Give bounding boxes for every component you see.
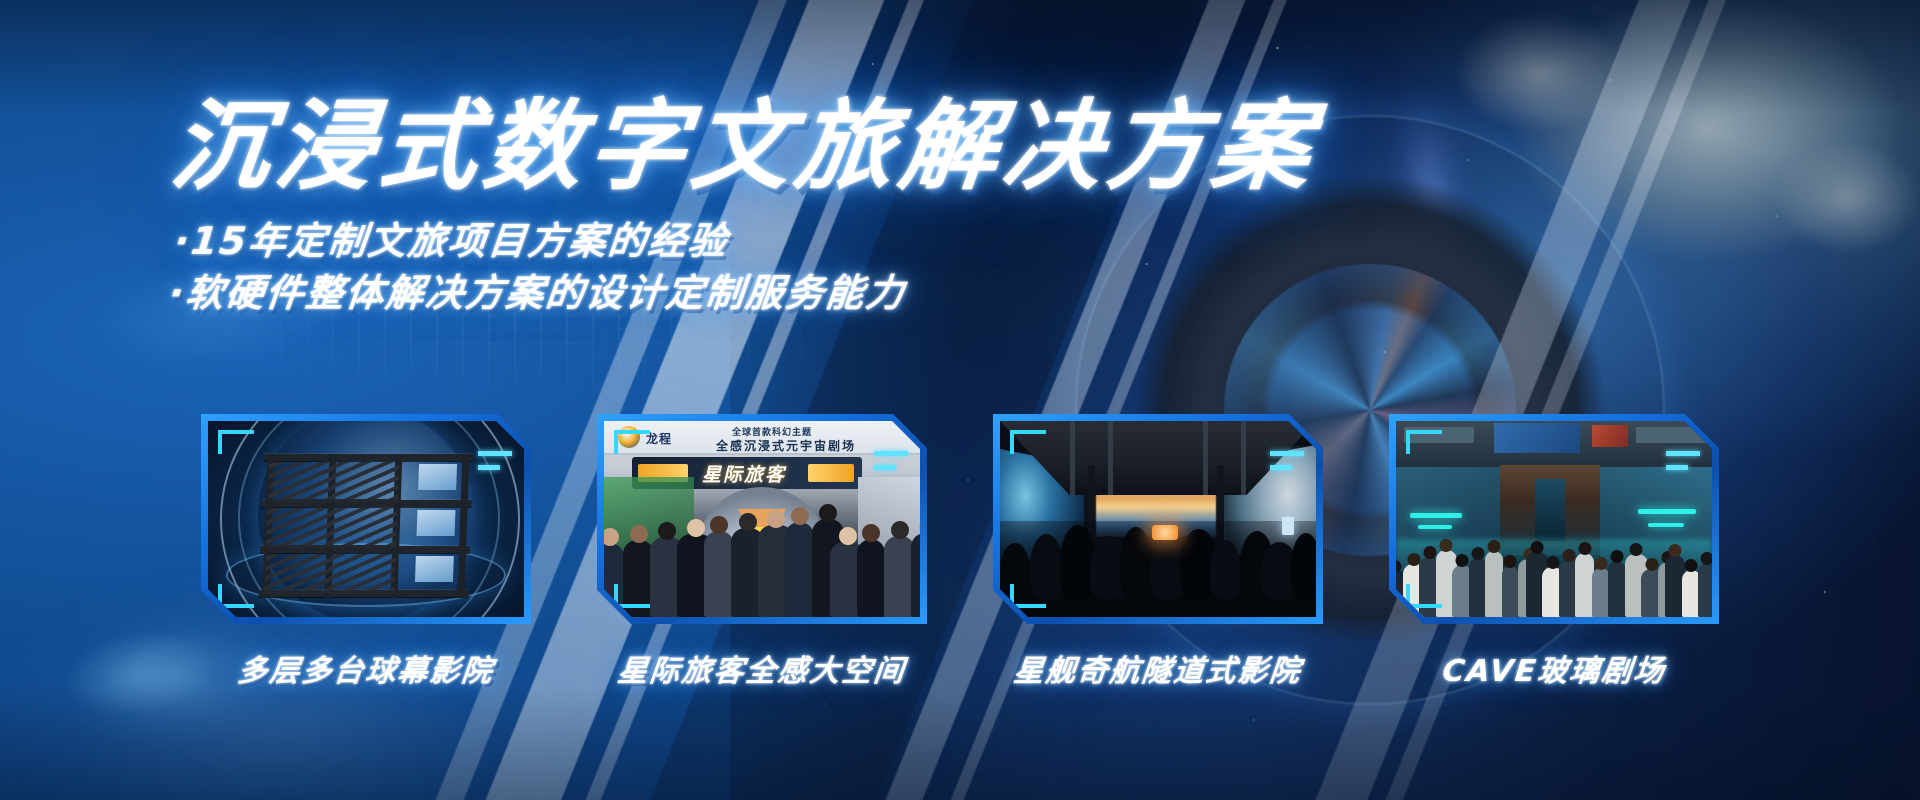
person-head [862, 524, 880, 542]
subtitle-line-2: ·软硬件整体解决方案的设计定制服务能力 [166, 267, 1316, 319]
subtitle-line-1: ·15年定制文旅项目方案的经验 [172, 215, 1322, 267]
card-caption-4: CAVE玻璃剧场 [1440, 646, 1668, 690]
person-head [1646, 558, 1659, 571]
art-cave-theater [1396, 421, 1712, 617]
accent-dash-icon [874, 465, 896, 470]
audience-silhouette [1210, 540, 1241, 599]
person-head [1396, 560, 1401, 573]
audience-member [1502, 566, 1519, 617]
rig-staircase [266, 508, 333, 548]
person-head [819, 504, 837, 522]
visitor-silhouette [604, 543, 624, 617]
showcase-card-4[interactable]: CAVE玻璃剧场 [1389, 414, 1719, 690]
accent-dash-icon [1666, 451, 1700, 456]
audience-member [1698, 563, 1712, 617]
booth-brand-name: 龙程 [646, 430, 672, 447]
person-head [1669, 544, 1682, 557]
person-head [687, 519, 705, 537]
person-head [710, 516, 728, 534]
booth-logo-icon [618, 426, 640, 448]
person-head [1530, 541, 1543, 554]
showcase-card-1[interactable]: 多层多台球幕影院 [201, 414, 531, 690]
audience-member [1396, 571, 1403, 617]
person-head [791, 507, 809, 525]
headline-block: 沉浸式数字文旅解决方案 ·15年定制文旅项目方案的经验 ·软硬件整体解决方案的设… [172, 96, 1316, 320]
accent-dash-icon [1270, 451, 1304, 456]
card-frame-4 [1389, 414, 1719, 624]
card-image-2: 龙程 全球首款科幻主题 全感沉浸式元宇宙剧场 星际旅客 [604, 421, 920, 617]
audience-silhouette [1030, 534, 1063, 599]
subtitle-list: ·15年定制文旅项目方案的经验 ·软硬件整体解决方案的设计定制服务能力 [166, 215, 1321, 320]
cave-audience-crowd [1396, 505, 1712, 617]
audience-member [1608, 561, 1625, 617]
person-head [1685, 559, 1698, 572]
ceiling-red-screen [1592, 425, 1628, 447]
person-head [839, 527, 857, 545]
rig-staircase [268, 462, 335, 502]
promo-banner: 沉浸式数字文旅解决方案 ·15年定制文旅项目方案的经验 ·软硬件整体解决方案的设… [0, 0, 1920, 800]
booth-visitor-crowd [604, 497, 920, 617]
rig-staircase [330, 508, 397, 548]
ceiling-blue-screen [1494, 423, 1580, 453]
person-head [658, 522, 676, 540]
page-title: 沉浸式数字文旅解决方案 [167, 96, 1322, 199]
art-tunnel-theater [1000, 421, 1316, 617]
card-frame-1 [201, 414, 531, 624]
ceiling-rib [1108, 421, 1113, 495]
rig-screen-panel [418, 464, 457, 490]
accent-dash-icon [478, 451, 512, 456]
card-image-1 [208, 421, 524, 617]
rig-staircase [265, 554, 332, 594]
showcase-card-row: 多层多台球幕影院 龙程 全球首款科幻主题 全感沉浸式元宇宙剧场 [0, 414, 1920, 690]
person-head [1456, 554, 1469, 567]
audience-silhouette [1000, 543, 1030, 599]
person-head [919, 518, 920, 536]
booth-header-large: 全感沉浸式元宇宙剧场 [716, 437, 856, 454]
booth-title-text: 星际旅客 [702, 460, 786, 487]
rig-screen-panel [417, 510, 456, 536]
glowing-phone-screen [1152, 525, 1178, 540]
person-head [1472, 547, 1485, 560]
person-head [1440, 539, 1453, 552]
person-head [1504, 555, 1517, 568]
card-caption-3: 星舰奇航隧道式影院 [1012, 646, 1305, 690]
person-head [1701, 552, 1713, 565]
person-head [767, 510, 785, 528]
rig-deck [263, 454, 473, 461]
card-frame-3 [993, 414, 1323, 624]
person-head [739, 513, 757, 531]
person-head [1578, 542, 1591, 555]
card-image-3 [1000, 421, 1316, 617]
ceiling-rib [1070, 421, 1075, 495]
ceiling-rib [1241, 421, 1246, 495]
person-head [891, 521, 909, 539]
accent-dash-icon [1270, 465, 1292, 470]
card-image-4 [1396, 421, 1712, 617]
rig-staircase [329, 554, 396, 594]
visitor-silhouette [785, 522, 814, 617]
visitor-silhouette [857, 539, 885, 617]
person-head [1594, 557, 1607, 570]
raised-phone-screen [1282, 517, 1294, 535]
accent-dash-icon [478, 465, 500, 470]
person-head [1424, 546, 1437, 559]
audience-silhouette [1120, 527, 1152, 599]
ceiling-panel [1404, 427, 1474, 443]
accent-dash-icon [1666, 465, 1688, 470]
theater-steel-rig [258, 448, 473, 598]
card-caption-1: 多层多台球幕影院 [236, 646, 497, 690]
showcase-card-2[interactable]: 龙程 全球首款科幻主题 全感沉浸式元宇宙剧场 星际旅客 [597, 414, 927, 690]
showcase-card-3[interactable]: 星舰奇航隧道式影院 [993, 414, 1323, 690]
accent-dash-icon [874, 451, 908, 456]
booth-header-sign: 龙程 全球首款科幻主题 全感沉浸式元宇宙剧场 [604, 421, 920, 455]
art-expo-booth-crowd: 龙程 全球首款科幻主题 全感沉浸式元宇宙剧场 星际旅客 [604, 421, 920, 617]
visitor-silhouette [704, 531, 734, 617]
rig-screen-panel [415, 556, 454, 582]
person-head [1610, 550, 1623, 563]
banner-accent-right [808, 464, 854, 482]
person-head [1546, 556, 1559, 569]
rig-staircase [332, 462, 399, 502]
card-frame-2: 龙程 全球首款科幻主题 全感沉浸式元宇宙剧场 星际旅客 [597, 414, 927, 624]
person-head [1562, 549, 1575, 562]
visitor-silhouette [911, 533, 920, 617]
rig-column [457, 454, 469, 598]
audience-member [1485, 551, 1503, 617]
ceiling-rib [1203, 421, 1208, 495]
card-caption-2: 星际旅客全感大空间 [616, 646, 909, 690]
art-multi-level-dome-theater [208, 421, 524, 617]
person-head [1630, 543, 1643, 556]
audience-member [1592, 568, 1610, 617]
audience-silhouette [1291, 533, 1316, 599]
person-head [604, 528, 619, 546]
person-head [1488, 540, 1501, 553]
person-head [630, 525, 648, 543]
ceiling-panel [1636, 427, 1712, 443]
